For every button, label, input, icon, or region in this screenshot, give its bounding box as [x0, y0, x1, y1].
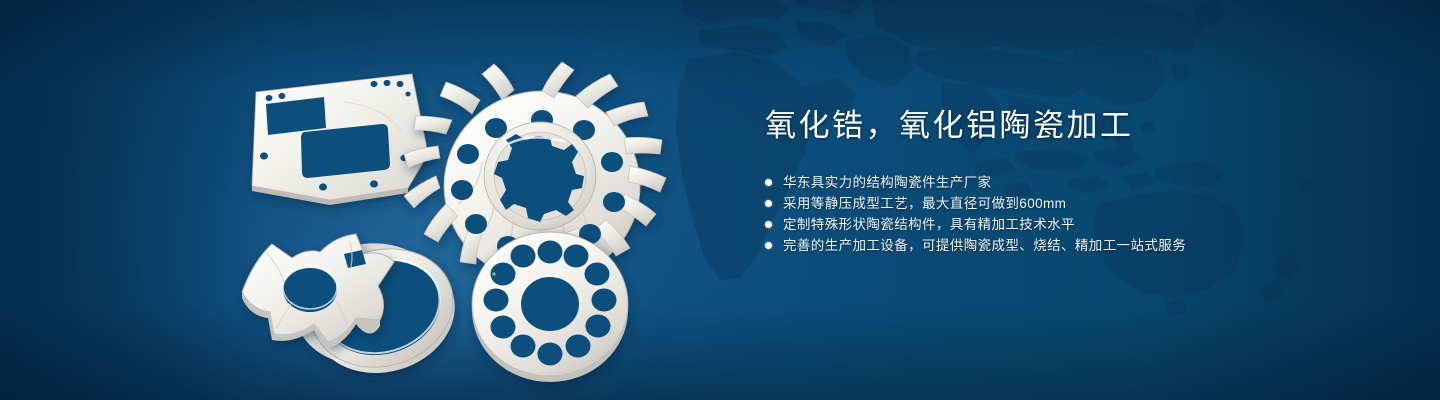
feature-text: 定制特殊形状陶瓷结构件，具有精加工技术水平: [783, 214, 1075, 235]
banner-copy: 氧化锆，氧化铝陶瓷加工 华东具实力的结构陶瓷件生产厂家 采用等静压成型工艺，最大…: [765, 106, 1365, 256]
list-item: 采用等静压成型工艺，最大直径可做到600mm: [765, 193, 1365, 214]
list-item: 华东具实力的结构陶瓷件生产厂家: [765, 172, 1365, 193]
feature-text: 采用等静压成型工艺，最大直径可做到600mm: [783, 193, 1066, 214]
bullet-icon: [765, 200, 772, 207]
feature-text: 完善的生产加工设备，可提供陶瓷成型、烧结、精加工一站式服务: [783, 235, 1186, 256]
ceramic-flat-plate: [252, 74, 428, 205]
ceramic-perforated-disc: [472, 232, 628, 382]
feature-text: 华东具实力的结构陶瓷件生产厂家: [783, 172, 992, 193]
ceramic-products-image: [232, 36, 702, 384]
list-item: 定制特殊形状陶瓷结构件，具有精加工技术水平: [765, 214, 1365, 235]
bullet-icon: [765, 179, 772, 186]
page-title: 氧化锆，氧化铝陶瓷加工: [765, 106, 1365, 146]
bullet-icon: [765, 242, 772, 249]
bullet-icon: [765, 221, 772, 228]
list-item: 完善的生产加工设备，可提供陶瓷成型、烧结、精加工一站式服务: [765, 235, 1365, 256]
hero-banner: 氧化锆，氧化铝陶瓷加工 华东具实力的结构陶瓷件生产厂家 采用等静压成型工艺，最大…: [0, 0, 1440, 400]
feature-list: 华东具实力的结构陶瓷件生产厂家 采用等静压成型工艺，最大直径可做到600mm 定…: [765, 172, 1365, 256]
